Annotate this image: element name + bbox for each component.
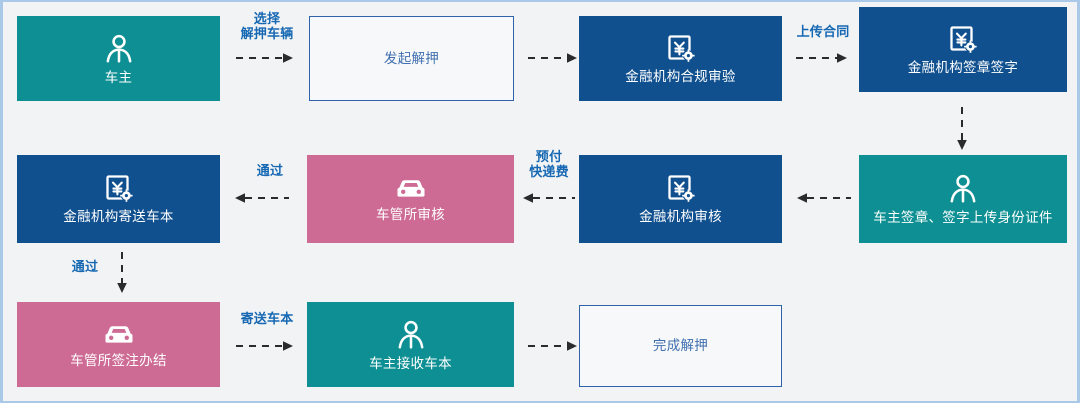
connector-label-send-vehicle-license: 寄送车本	[231, 312, 303, 327]
node-owner-receive-vehicle-license[interactable]: 车主接收车本	[307, 302, 514, 387]
arrow-left-dmv-review-to-institution-send	[231, 192, 293, 204]
node-dmv-endorsement-completed[interactable]: 车管所签注办结	[17, 302, 220, 387]
node-release-completed[interactable]: 完成解押	[579, 305, 782, 387]
node-label: 金融机构审核	[639, 209, 722, 225]
arrow-right-owner-receive-to-complete	[527, 340, 583, 352]
finance-doc-gear-icon	[665, 33, 697, 65]
node-label: 金融机构寄送车本	[63, 209, 173, 225]
arrow-right-dmv-endorse-to-owner-receive	[235, 340, 299, 352]
connector-label-prepaid-shipping-fee: 预付 快递费	[521, 150, 577, 179]
connector-label-line1: 上传合同	[789, 25, 857, 40]
connector-label-line1: 寄送车本	[231, 312, 303, 327]
node-owner-seal-signature-upload-id[interactable]: 车主签章、签字上传身份证件	[859, 155, 1067, 243]
connector-label-pass-row2: 通过	[243, 164, 297, 179]
person-icon	[946, 172, 980, 206]
node-label: 完成解押	[653, 338, 708, 354]
car-icon	[101, 321, 137, 349]
arrow-right-owner-to-initiate	[235, 52, 299, 64]
node-label: 车主接收车本	[369, 356, 452, 372]
connector-label-pass-col1: 通过	[58, 260, 112, 275]
arrow-left-institution-review-to-dmv-review	[519, 192, 579, 204]
finance-doc-gear-icon	[103, 173, 135, 205]
person-icon	[394, 318, 428, 352]
node-label: 车管所审核	[376, 207, 445, 223]
node-car-owner[interactable]: 车主	[17, 16, 220, 101]
node-label: 车主	[105, 70, 133, 86]
arrow-down-signature-to-owner-seal	[956, 106, 968, 156]
node-initiate-release[interactable]: 发起解押	[309, 16, 514, 101]
connector-label-line1: 选择	[231, 12, 303, 27]
node-label: 金融机构合规审验	[625, 69, 735, 85]
node-label: 车管所签注办结	[70, 353, 167, 369]
node-institution-review[interactable]: 金融机构审核	[579, 155, 782, 243]
flowchart-canvas: 车主 选择 解押车辆 发起解押	[0, 0, 1080, 403]
node-label: 车主签章、签字上传身份证件	[873, 210, 1052, 226]
connector-label-line2: 快递费	[521, 165, 577, 180]
node-institution-seal-signature[interactable]: 金融机构签章签字	[859, 7, 1067, 92]
node-dmv-review[interactable]: 车管所审核	[307, 155, 514, 243]
connector-label-line1: 通过	[58, 260, 112, 275]
node-label: 发起解押	[384, 51, 439, 67]
connector-label-line2: 解押车辆	[231, 27, 303, 42]
connector-label-upload-contract: 上传合同	[789, 25, 857, 40]
node-compliance-review[interactable]: 金融机构合规审验	[579, 16, 782, 101]
node-institution-send-vehicle-license[interactable]: 金融机构寄送车本	[17, 155, 220, 243]
arrow-right-initiate-to-compliance	[527, 52, 583, 64]
arrow-down-institution-send-to-dmv-endorse	[116, 251, 128, 298]
car-icon	[393, 175, 429, 203]
finance-doc-gear-icon	[665, 173, 697, 205]
finance-doc-gear-icon	[947, 24, 979, 56]
node-label: 金融机构签章签字	[908, 60, 1018, 76]
arrow-left-owner-seal-to-institution-review	[793, 192, 855, 204]
person-icon	[102, 32, 136, 66]
connector-label-line1: 预付	[521, 150, 577, 165]
arrow-right-compliance-to-signature	[795, 52, 853, 64]
connector-label-line1: 通过	[243, 164, 297, 179]
connector-label-select-vehicle: 选择 解押车辆	[231, 12, 303, 41]
